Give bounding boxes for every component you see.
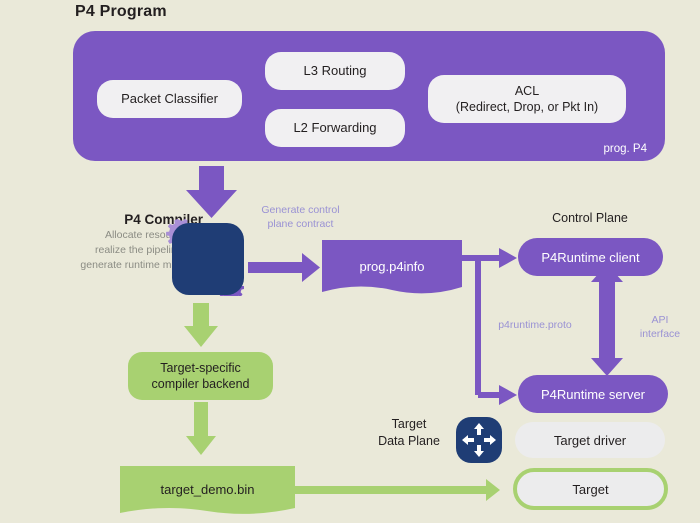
prog-p4-label: prog. P4 <box>604 143 647 155</box>
target-data-plane-line2: Data Plane <box>368 433 450 450</box>
artifact-p4info[interactable]: prog.p4info <box>322 240 462 298</box>
arrow-client-server-bidirectional <box>591 264 623 376</box>
gears-icon <box>160 212 244 296</box>
p4runtime-client-label: P4Runtime client <box>541 250 639 265</box>
note-p4runtime-proto: p4runtime.proto <box>480 318 590 332</box>
arrowhead-to-server <box>499 385 517 405</box>
target-driver[interactable]: Target driver <box>515 422 665 458</box>
target-data-plane-line1: Target <box>368 416 450 433</box>
block-l2-forwarding[interactable]: L2 Forwarding <box>265 109 405 147</box>
arrow-compiler-to-backend <box>184 303 218 347</box>
note-api-interface: API interface <box>632 313 688 341</box>
page-title: P4 Program <box>75 3 167 21</box>
note-generate-line1: Generate control <box>243 203 358 217</box>
note-generate-line2: plane contract <box>243 217 358 231</box>
block-l3-routing[interactable]: L3 Routing <box>265 52 405 90</box>
block-acl-label-line2: (Redirect, Drop, or Pkt In) <box>456 99 598 115</box>
arrowhead-to-client <box>499 248 517 268</box>
arrow-program-to-compiler <box>186 166 237 218</box>
block-packet-classifier-label: Packet Classifier <box>121 91 218 107</box>
switch-four-arrows-icon <box>456 417 502 463</box>
artifact-p4info-label: prog.p4info <box>322 240 462 292</box>
artifact-binary[interactable]: target_demo.bin <box>120 466 295 518</box>
note-api-line2: interface <box>632 327 688 341</box>
target-label: Target <box>572 482 608 497</box>
block-l3-routing-label: L3 Routing <box>304 63 367 79</box>
diagram-canvas: prog. P4 Packet Classifier L3 Routing L2… <box>0 0 700 523</box>
note-generate-contract: Generate control plane contract <box>243 203 358 231</box>
arrow-backend-to-binary <box>186 402 216 455</box>
block-acl-label-line1: ACL <box>456 83 598 99</box>
target-specific-backend[interactable]: Target-specific compiler backend <box>128 352 273 400</box>
p4runtime-server[interactable]: P4Runtime server <box>518 375 668 413</box>
artifact-binary-label: target_demo.bin <box>120 466 295 512</box>
block-packet-classifier[interactable]: Packet Classifier <box>97 80 242 118</box>
block-l2-forwarding-label: L2 Forwarding <box>293 120 376 136</box>
target[interactable]: Target <box>513 468 668 510</box>
p4runtime-server-label: P4Runtime server <box>541 387 645 402</box>
target-driver-label: Target driver <box>554 433 626 448</box>
p4runtime-client[interactable]: P4Runtime client <box>518 238 663 276</box>
control-plane-heading: Control Plane <box>520 211 660 225</box>
note-api-line1: API <box>632 313 688 327</box>
block-acl[interactable]: ACL (Redirect, Drop, or Pkt In) <box>428 75 626 123</box>
arrow-compiler-to-p4info <box>248 253 320 282</box>
backend-label-line1: Target-specific <box>152 360 250 376</box>
arrow-binary-to-target <box>278 479 500 501</box>
backend-label-line2: compiler backend <box>152 376 250 392</box>
target-data-plane-heading: Target Data Plane <box>368 416 450 450</box>
